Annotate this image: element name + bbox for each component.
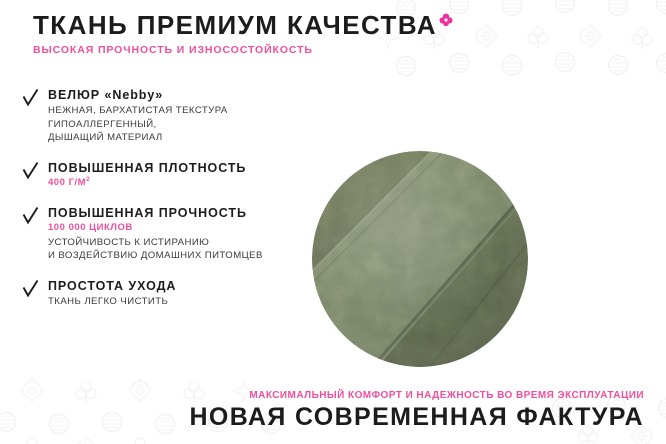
fabric-swatch-image <box>312 151 528 367</box>
list-item: ПОВЫШЕННАЯ ПЛОТНОСТЬ 400 Г/М2 <box>22 161 312 189</box>
feature-title: ПРОСТОТА УХОДА <box>48 279 312 293</box>
check-icon <box>22 88 39 107</box>
feature-highlight: 100 000 ЦИКЛОВ <box>48 222 312 233</box>
headline-row: ТКАНЬ ПРЕМИУМ КАЧЕСТВА <box>33 12 453 38</box>
footer-kicker: МАКСИМАЛЬНЫЙ КОМФОРТ И НАДЕЖНОСТЬ ВО ВРЕ… <box>189 390 644 401</box>
feature-list: ВЕЛЮР «Nebby» НЕЖНАЯ, БАРХАТИСТАЯ ТЕКСТУ… <box>22 88 312 309</box>
check-icon <box>22 279 39 298</box>
feature-title: ВЕЛЮР «Nebby» <box>48 88 312 102</box>
feature-title: ПОВЫШЕННАЯ ПРОЧНОСТЬ <box>48 206 312 220</box>
list-item: ВЕЛЮР «Nebby» НЕЖНАЯ, БАРХАТИСТАЯ ТЕКСТУ… <box>22 88 312 144</box>
feature-title: ПОВЫШЕННАЯ ПЛОТНОСТЬ <box>48 161 312 175</box>
header: ТКАНЬ ПРЕМИУМ КАЧЕСТВА ВЫСОКАЯ ПРОЧНОСТЬ… <box>33 12 453 56</box>
list-item: ПРОСТОТА УХОДА ТКАНЬ ЛЕГКО ЧИСТИТЬ <box>22 279 312 309</box>
footer-headline: НОВАЯ СОВРЕМЕННАЯ ФАКТУРА <box>189 404 644 430</box>
check-icon <box>22 206 39 225</box>
feature-description: УСТОЙЧИВОСТЬ К ИСТИРАНИЮ И ВОЗДЕЙСТВИЮ Д… <box>48 236 312 262</box>
footer: МАКСИМАЛЬНЫЙ КОМФОРТ И НАДЕЖНОСТЬ ВО ВРЕ… <box>189 390 644 430</box>
page-subtitle: ВЫСОКАЯ ПРОЧНОСТЬ И ИЗНОСОСТОЙКОСТЬ <box>33 44 453 56</box>
promo-banner: ТКАНЬ ПРЕМИУМ КАЧЕСТВА ВЫСОКАЯ ПРОЧНОСТЬ… <box>0 0 666 444</box>
feature-highlight-superscript: 2 <box>86 176 90 183</box>
list-item: ПОВЫШЕННАЯ ПРОЧНОСТЬ 100 000 ЦИКЛОВ УСТО… <box>22 206 312 262</box>
feature-description: НЕЖНАЯ, БАРХАТИСТАЯ ТЕКСТУРА ГИПОАЛЛЕРГЕ… <box>48 104 312 144</box>
check-icon <box>22 161 39 180</box>
feature-description: ТКАНЬ ЛЕГКО ЧИСТИТЬ <box>48 295 312 308</box>
page-title: ТКАНЬ ПРЕМИУМ КАЧЕСТВА <box>33 12 437 38</box>
flower-icon <box>439 13 453 27</box>
feature-highlight-value: 400 Г/М <box>48 177 86 188</box>
feature-highlight: 400 Г/М2 <box>48 177 312 188</box>
